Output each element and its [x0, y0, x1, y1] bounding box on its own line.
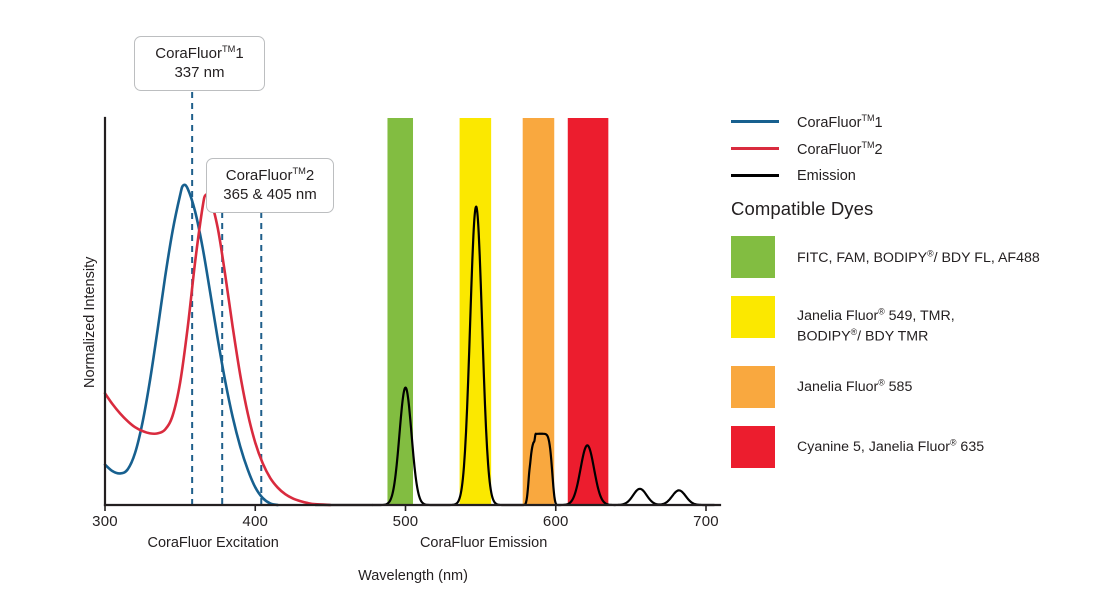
- excitation-caption: CoraFluor Excitation: [147, 535, 278, 551]
- y-axis-title: Normalized Intensity: [82, 257, 98, 388]
- compatible-dyes-title: Compatible Dyes: [731, 198, 1091, 220]
- dye-color-swatch-0: [731, 236, 775, 278]
- band-group: [387, 118, 608, 505]
- dye-row-list: FITC, FAM, BODIPY®/ BDY FL, AF488Janelia…: [731, 236, 1091, 468]
- dye-label-1: Janelia Fluor® 549, TMR,BODIPY®/ BDY TMR: [797, 296, 955, 348]
- legend-line-swatch-corafluor1: [731, 120, 779, 123]
- dye-label-2-line1: Janelia Fluor® 585: [797, 379, 912, 395]
- dye-color-swatch-3: [731, 426, 775, 468]
- dye-color-swatch-2: [731, 366, 775, 408]
- corafluor2-callout-line2: 365 & 405 nm: [220, 185, 320, 204]
- corafluor1-callout-line2: 337 nm: [148, 63, 251, 82]
- dye-label-0: FITC, FAM, BODIPY®/ BDY FL, AF488: [797, 236, 1040, 268]
- dye-row-2: Janelia Fluor® 585: [731, 366, 1091, 408]
- curve-corafluor2: [105, 194, 330, 505]
- legend-item-corafluor2: CoraFluorTM2: [731, 135, 1081, 162]
- corafluor1-callout-line1: CoraFluorTM1: [155, 45, 243, 62]
- emission-caption: CoraFluor Emission: [420, 535, 547, 551]
- band-green: [387, 118, 413, 505]
- dye-row-0: FITC, FAM, BODIPY®/ BDY FL, AF488: [731, 236, 1091, 278]
- dye-row-1: Janelia Fluor® 549, TMR,BODIPY®/ BDY TMR: [731, 296, 1091, 348]
- legend-label-emission: Emission: [797, 168, 856, 184]
- compatible-dyes-panel: Compatible Dyes FITC, FAM, BODIPY®/ BDY …: [731, 198, 1091, 486]
- legend-label-corafluor1: CoraFluorTM1: [797, 113, 883, 131]
- dye-color-swatch-1: [731, 296, 775, 338]
- x-tick-label-500: 500: [393, 513, 419, 530]
- dye-row-3: Cyanine 5, Janelia Fluor® 635: [731, 426, 1091, 468]
- corafluor2-callout-line1: CoraFluorTM2: [226, 167, 314, 184]
- series-legend: CoraFluorTM1 CoraFluorTM2 Emission: [731, 108, 1081, 189]
- legend-item-corafluor1: CoraFluorTM1: [731, 108, 1081, 135]
- corafluor2-callout: CoraFluorTM2365 & 405 nm: [206, 158, 334, 213]
- dye-label-3-line1: Cyanine 5, Janelia Fluor® 635: [797, 439, 984, 455]
- dye-label-1-line1: Janelia Fluor® 549, TMR,: [797, 308, 955, 324]
- corafluor1-callout: CoraFluorTM1337 nm: [134, 36, 265, 91]
- x-tick-label-700: 700: [693, 513, 719, 530]
- legend-line-swatch-corafluor2: [731, 147, 779, 150]
- guide-line-group: [192, 92, 261, 505]
- x-tick-label-600: 600: [543, 513, 569, 530]
- x-axis-title: Wavelength (nm): [358, 568, 468, 584]
- spectra-figure: 300400500600700 CoraFluor ExcitationCora…: [0, 0, 1110, 612]
- legend-label-corafluor2: CoraFluorTM2: [797, 140, 883, 158]
- dye-label-2: Janelia Fluor® 585: [797, 366, 912, 398]
- dye-label-3: Cyanine 5, Janelia Fluor® 635: [797, 426, 984, 458]
- x-tick-label-300: 300: [92, 513, 118, 530]
- legend-line-swatch-emission: [731, 174, 779, 177]
- dye-label-1-line2: BODIPY®/ BDY TMR: [797, 326, 955, 347]
- x-tick-label-400: 400: [242, 513, 268, 530]
- dye-label-0-line1: FITC, FAM, BODIPY®/ BDY FL, AF488: [797, 250, 1040, 266]
- legend-item-emission: Emission: [731, 162, 1081, 189]
